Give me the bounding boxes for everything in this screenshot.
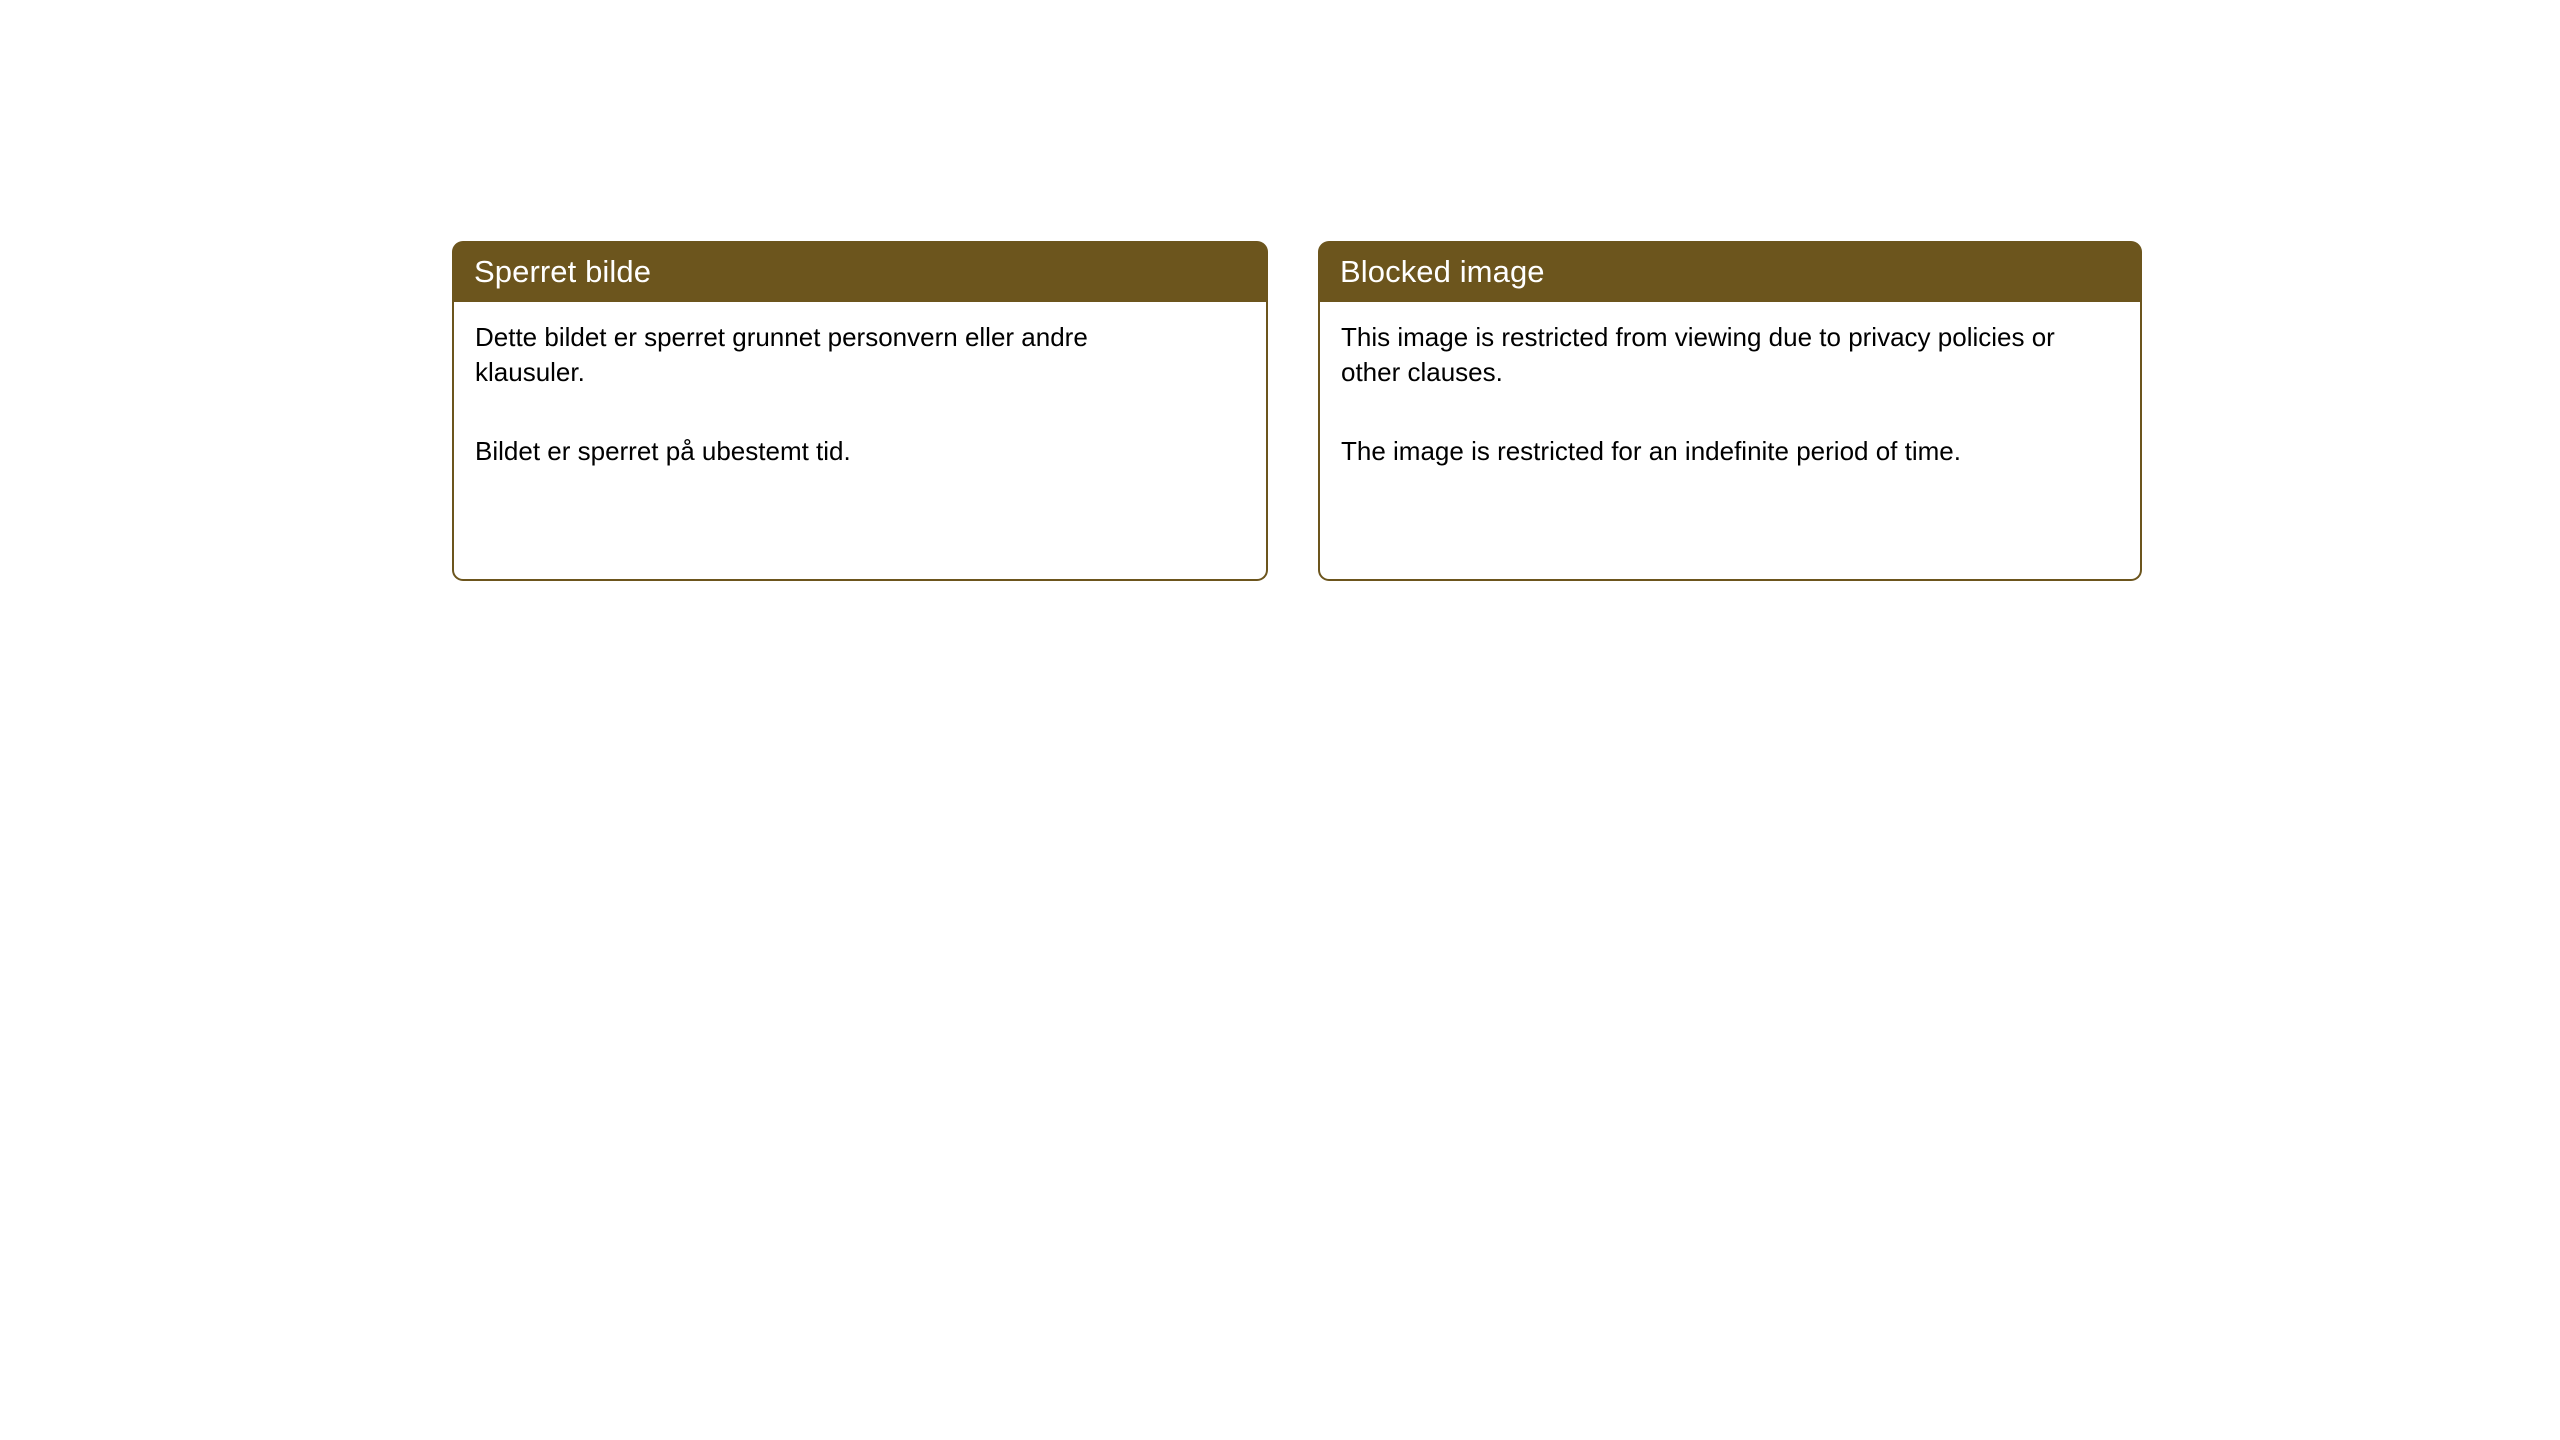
card-body-english: This image is restricted from viewing du… [1318,302,2142,581]
card-body-norwegian: Dette bildet er sperret grunnet personve… [452,302,1268,581]
card-header-english: Blocked image [1318,241,2142,302]
page-canvas: Sperret bilde Dette bildet er sperret gr… [0,0,2560,1440]
card-paragraph-duration-norwegian: Bildet er sperret på ubestemt tid. [475,434,1175,469]
card-paragraph-duration-english: The image is restricted for an indefinit… [1341,434,2111,469]
card-title-english: Blocked image [1318,256,1545,287]
blocked-image-card-english: Blocked image This image is restricted f… [1318,241,2142,581]
card-header-norwegian: Sperret bilde [452,241,1268,302]
card-paragraph-reason-norwegian: Dette bildet er sperret grunnet personve… [475,320,1175,390]
card-paragraph-reason-english: This image is restricted from viewing du… [1341,320,2111,390]
card-title-norwegian: Sperret bilde [452,256,651,287]
blocked-image-card-norwegian: Sperret bilde Dette bildet er sperret gr… [452,241,1268,581]
